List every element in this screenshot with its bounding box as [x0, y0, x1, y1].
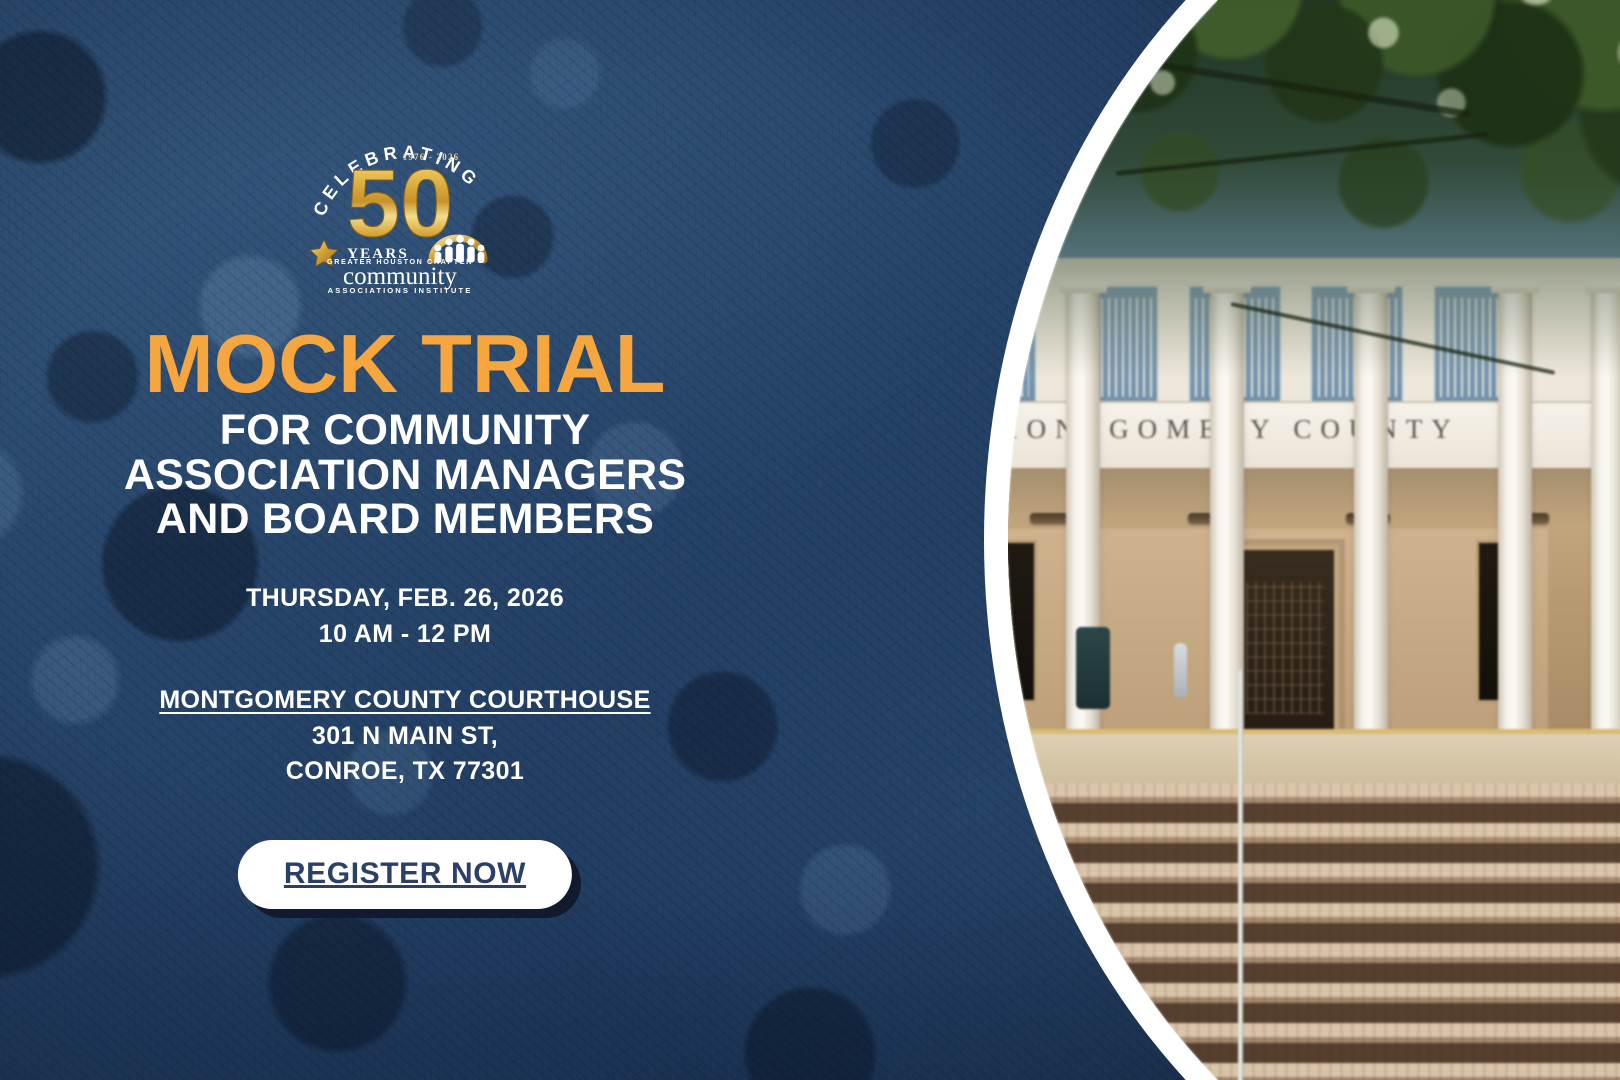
cai-50-years-logo: CELEBRATING 1976 - 2026 50 YEARS [300, 108, 510, 293]
photo-stone-wall [943, 811, 1058, 1080]
photo-column [922, 291, 956, 784]
register-now-button[interactable]: REGISTER NOW [238, 840, 572, 909]
photo-bollard [1174, 643, 1187, 697]
subtitle-line-2: ASSOCIATION MANAGERS [0, 453, 810, 498]
page-title: MOCK TRIAL [0, 322, 810, 405]
photo-shrub [907, 762, 1044, 1000]
event-date: THURSDAY, FEB. 26, 2026 [0, 580, 810, 616]
subtitle-line-3: AND BOARD MEMBERS [0, 497, 810, 542]
svg-text:ASSOCIATIONS INSTITUTE: ASSOCIATIONS INSTITUTE [328, 286, 473, 293]
venue-city-state-zip: CONROE, TX 77301 [0, 754, 810, 790]
photo-clip-mask: MONTGOMERY COUNTY [900, 0, 1620, 1080]
photo-trash-bin [1076, 627, 1110, 709]
content-column: CELEBRATING 1976 - 2026 50 YEARS [0, 0, 810, 1080]
svg-text:50: 50 [347, 150, 454, 257]
register-cta-wrapper: REGISTER NOW [238, 840, 572, 909]
photo-handrail [1238, 670, 1243, 1080]
venue-street: 301 N MAIN ST, [0, 719, 810, 755]
venue-name: MONTGOMERY COUNTY COURTHOUSE [0, 683, 810, 719]
subtitle-line-1: FOR COMMUNITY [0, 408, 810, 453]
event-datetime: THURSDAY, FEB. 26, 2026 10 AM - 12 PM [0, 580, 810, 653]
event-flyer: MONTGOMERY COUNTY [0, 0, 1620, 1080]
courthouse-photo-panel: MONTGOMERY COUNTY [900, 0, 1620, 1080]
page-subtitle: FOR COMMUNITY ASSOCIATION MANAGERS AND B… [0, 408, 810, 542]
event-venue: MONTGOMERY COUNTY COURTHOUSE 301 N MAIN … [0, 683, 810, 790]
photo-entrance-door [1231, 545, 1339, 751]
event-time: 10 AM - 12 PM [0, 616, 810, 652]
courthouse-photo: MONTGOMERY COUNTY [900, 0, 1620, 1080]
photo-steps [900, 783, 1620, 1080]
